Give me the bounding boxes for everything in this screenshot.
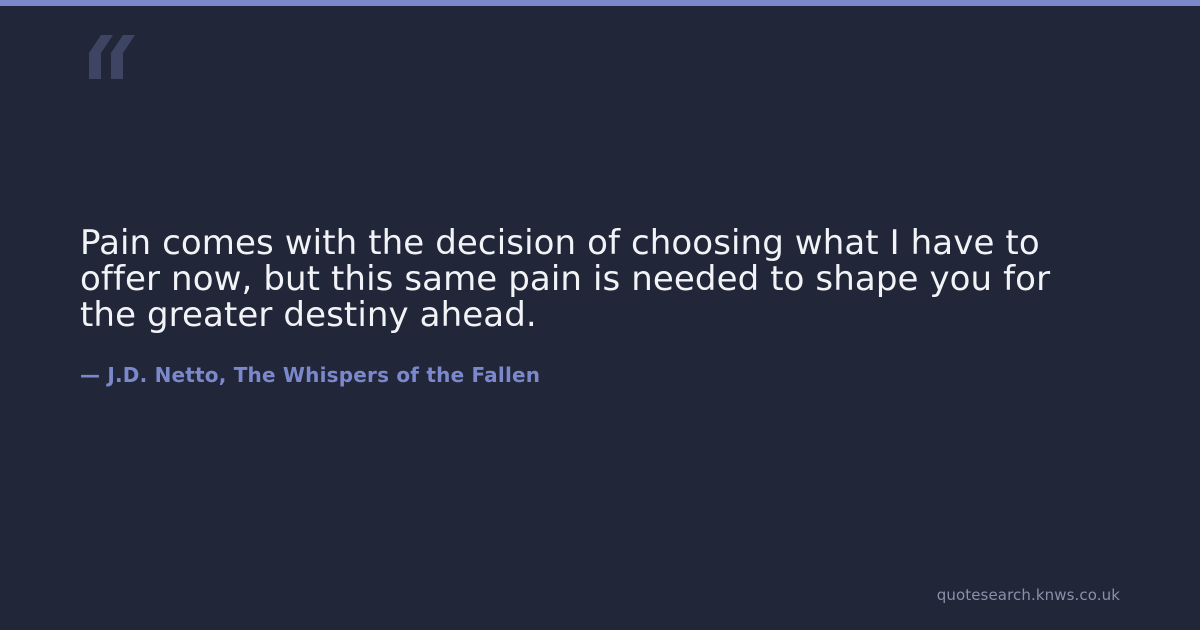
source-watermark: quotesearch.knws.co.uk [937, 585, 1120, 605]
quote-text: Pain comes with the decision of choosing… [80, 225, 1110, 333]
quote-card: Pain comes with the decision of choosing… [0, 6, 1200, 630]
quote-attribution: — J.D. Netto, The Whispers of the Fallen [80, 361, 540, 389]
quote-text-block: Pain comes with the decision of choosing… [80, 225, 1110, 333]
double-open-quote-icon [79, 35, 135, 79]
